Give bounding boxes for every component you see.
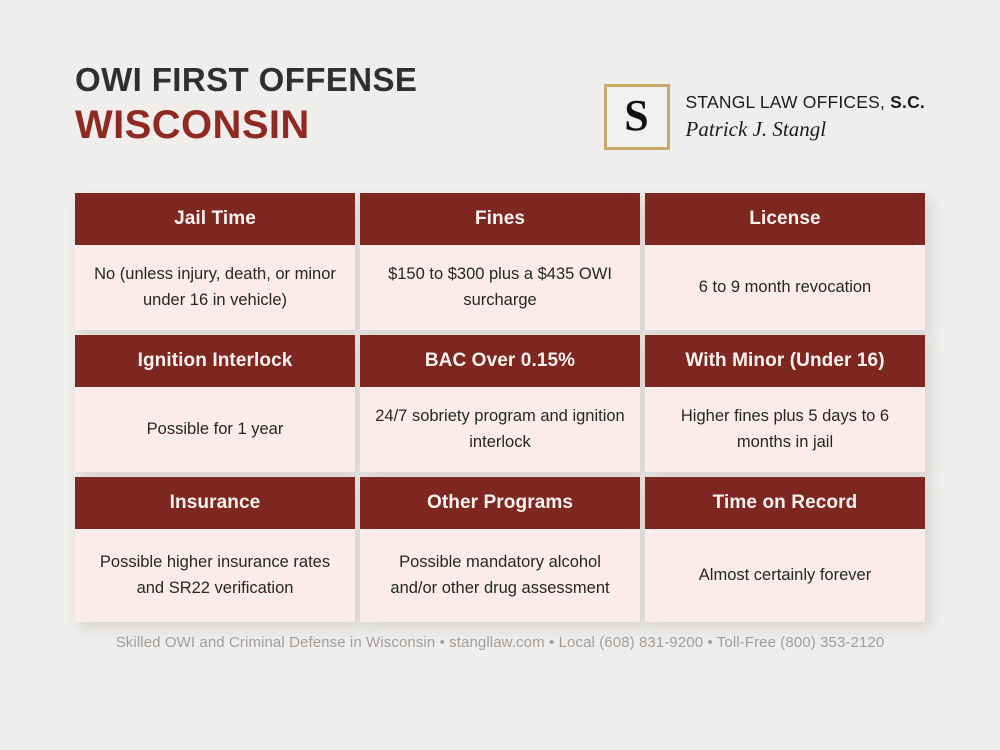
cell-body: $150 to $300 plus a $435 OWI surcharge [360, 245, 640, 330]
table-cell-bac-over: BAC Over 0.15% 24/7 sobriety program and… [360, 335, 640, 472]
cell-heading: Other Programs [360, 477, 640, 529]
logo-monogram-box: S [604, 84, 670, 150]
logo-attorney-name: Patrick J. Stangl [686, 116, 925, 142]
cell-body: Possible mandatory alcohol and/or other … [360, 529, 640, 622]
table-cell-with-minor: With Minor (Under 16) Higher fines plus … [645, 335, 925, 472]
cell-body: 24/7 sobriety program and ignition inter… [360, 387, 640, 472]
cell-heading: License [645, 193, 925, 245]
header: OWI FIRST OFFENSE WISCONSIN S STANGL LAW… [75, 62, 925, 172]
brand-logo: S STANGL LAW OFFICES, S.C. Patrick J. St… [604, 84, 925, 150]
table-cell-jail-time: Jail Time No (unless injury, death, or m… [75, 193, 355, 330]
cell-body: Higher fines plus 5 days to 6 months in … [645, 387, 925, 472]
cell-body: Possible higher insurance rates and SR22… [75, 529, 355, 622]
page-title-state: WISCONSIN [75, 103, 417, 148]
table-cell-time-on-record: Time on Record Almost certainly forever [645, 477, 925, 622]
table-cell-insurance: Insurance Possible higher insurance rate… [75, 477, 355, 622]
cell-body: 6 to 9 month revocation [645, 245, 925, 330]
footer-contact-line: Skilled OWI and Criminal Defense in Wisc… [0, 634, 1000, 651]
logo-firm-name: STANGL LAW OFFICES, S.C. [686, 92, 925, 114]
table-cell-license: License 6 to 9 month revocation [645, 193, 925, 330]
cell-heading: With Minor (Under 16) [645, 335, 925, 387]
logo-firm-name-main: STANGL LAW OFFICES, [686, 92, 886, 112]
table-cell-fines: Fines $150 to $300 plus a $435 OWI surch… [360, 193, 640, 330]
cell-body: Possible for 1 year [75, 387, 355, 472]
cell-heading: Time on Record [645, 477, 925, 529]
cell-heading: Ignition Interlock [75, 335, 355, 387]
infographic-page: OWI FIRST OFFENSE WISCONSIN S STANGL LAW… [0, 0, 1000, 750]
logo-monogram-letter: S [624, 94, 648, 138]
table-cell-other-programs: Other Programs Possible mandatory alcoho… [360, 477, 640, 622]
cell-heading: Jail Time [75, 193, 355, 245]
table-row: Jail Time No (unless injury, death, or m… [75, 193, 925, 330]
logo-text-block: STANGL LAW OFFICES, S.C. Patrick J. Stan… [686, 92, 925, 142]
title-block: OWI FIRST OFFENSE WISCONSIN [75, 62, 417, 148]
table-row: Ignition Interlock Possible for 1 year B… [75, 335, 925, 472]
cell-body: No (unless injury, death, or minor under… [75, 245, 355, 330]
cell-heading: Insurance [75, 477, 355, 529]
cell-heading: BAC Over 0.15% [360, 335, 640, 387]
cell-heading: Fines [360, 193, 640, 245]
table-cell-ignition-interlock: Ignition Interlock Possible for 1 year [75, 335, 355, 472]
page-title-primary: OWI FIRST OFFENSE [75, 62, 417, 99]
logo-firm-name-suffix: S.C. [890, 92, 925, 112]
cell-body: Almost certainly forever [645, 529, 925, 622]
penalties-table: Jail Time No (unless injury, death, or m… [75, 193, 925, 622]
table-row: Insurance Possible higher insurance rate… [75, 477, 925, 622]
